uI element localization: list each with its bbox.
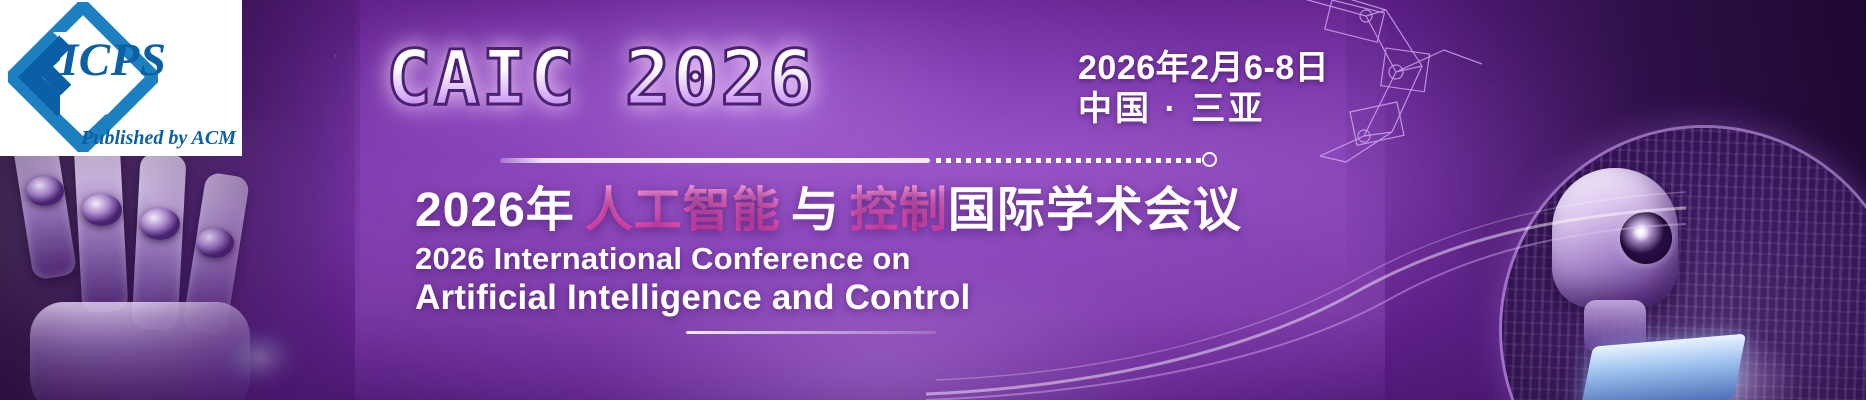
robot-hand-image	[0, 120, 330, 400]
robot-knuckle	[140, 208, 180, 240]
title-cn-segment-conference: 国际学术会议	[948, 184, 1242, 237]
divider-end-circle-icon	[1202, 152, 1217, 167]
title-cn-segment-control: 控制	[850, 184, 948, 237]
divider-dotted-segment	[936, 158, 1202, 163]
conference-dates: 2026年2月6-8日	[1078, 48, 1329, 89]
conference-banner: ICPS Published by ACM CAIC 2026 2026年2月6…	[0, 0, 1866, 400]
conference-title-english-line2: Artificial Intelligence and Control	[415, 278, 970, 318]
title-cn-segment-ai: 人工智能	[585, 184, 781, 237]
icps-acronym: ICPS	[60, 33, 167, 87]
headline-caic-2026: CAIC 2026	[386, 40, 816, 116]
title-cn-segment-and: 与	[791, 184, 840, 237]
robot-knuckle	[196, 228, 234, 258]
title-cn-segment-year: 2026年	[415, 184, 575, 237]
icps-logo-card: ICPS Published by ACM	[0, 0, 242, 156]
bottom-accent-rule	[686, 331, 936, 334]
divider-solid-segment	[500, 158, 930, 163]
conference-title-english-line1: 2026 International Conference on	[415, 241, 911, 277]
robot-knuckle	[26, 176, 64, 206]
conference-location: 中国 · 三亚	[1078, 89, 1329, 130]
robot-finger	[74, 141, 129, 313]
decorative-divider	[500, 150, 1220, 172]
conference-title-chinese: 2026年人工智能与控制国际学术会议	[415, 183, 1242, 238]
date-location-block: 2026年2月6-8日 中国 · 三亚	[1078, 48, 1329, 131]
spark-glow	[214, 296, 334, 386]
icps-published-by-label: Published by ACM	[81, 127, 236, 150]
robot-knuckle	[82, 194, 122, 226]
